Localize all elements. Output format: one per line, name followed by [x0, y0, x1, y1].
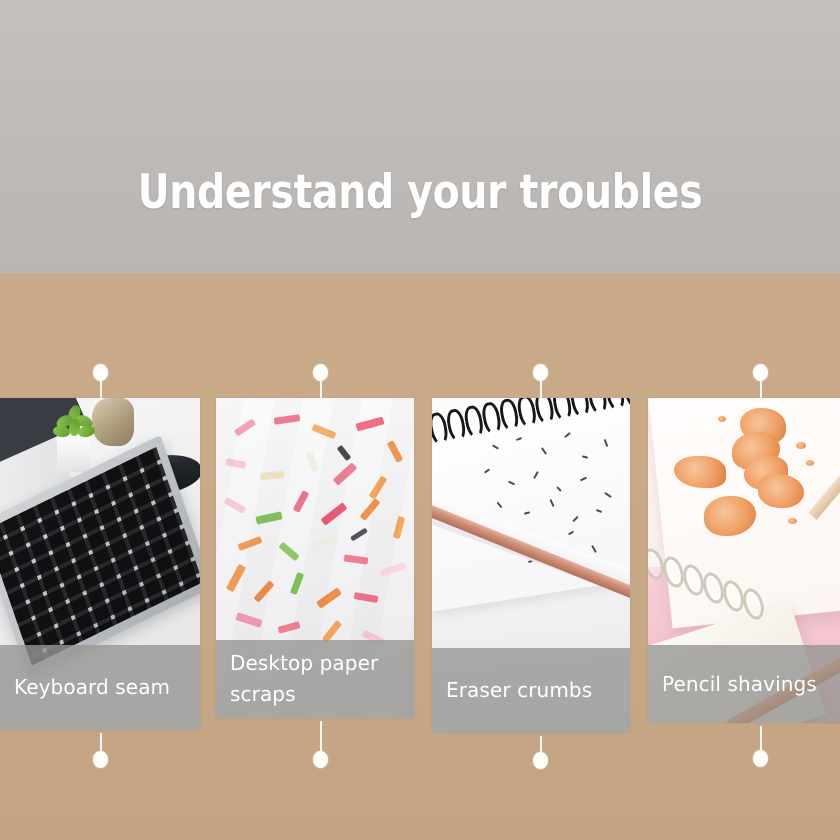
paper-scrap [277, 621, 300, 633]
paper-scrap [312, 424, 337, 439]
paper-scrap [354, 592, 379, 603]
pin-marker-top-2 [320, 364, 322, 402]
pin-marker-bottom-2 [320, 721, 322, 773]
pencil-shaving [796, 442, 806, 449]
paper-scrap [321, 502, 348, 526]
paper-scrap [274, 414, 301, 425]
card-keyboard-seam[interactable]: Keyboard seam [0, 398, 200, 730]
card-pencil-shavings[interactable]: Pencil shavings [648, 398, 840, 723]
card-eraser-crumbs[interactable]: Eraser crumbs [432, 398, 630, 733]
pin-marker-top-1 [100, 364, 102, 402]
paper-scrap [387, 440, 404, 463]
paper-scrap [316, 587, 342, 608]
card-label-eraser-crumbs: Eraser crumbs [432, 675, 606, 706]
paper-scrap [253, 580, 274, 603]
paper-scrap [369, 475, 388, 499]
card-label-pencil-shavings: Pencil shavings [648, 669, 831, 700]
pin-marker-bottom-4 [760, 726, 762, 774]
paper-scrap [278, 542, 299, 562]
stone-decor [92, 398, 134, 446]
paper-scrap [344, 554, 369, 564]
paper-scrap [225, 458, 246, 469]
paper-scrap [388, 603, 411, 620]
paper-scrap [255, 511, 282, 524]
pin-stem-icon [320, 721, 322, 755]
paper-scrap [312, 533, 339, 551]
card-label-band: Eraser crumbs [432, 648, 630, 733]
card-label-band: Desktop paper scraps [216, 640, 414, 718]
card-label-band: Pencil shavings [648, 645, 840, 723]
pin-marker-top-4 [760, 364, 762, 402]
paper-scrap [234, 418, 256, 436]
paper-scrap [224, 497, 247, 514]
paper-scrap [305, 451, 318, 472]
paper-scrap [380, 562, 407, 577]
card-label-desktop-paper-scraps: Desktop paper scraps [216, 648, 414, 710]
pencil-shaving [788, 518, 797, 524]
paper-scrap [238, 536, 263, 551]
header-band: Understand your troubles [0, 0, 840, 273]
pencil-shaving [718, 416, 726, 422]
paper-scrap [235, 612, 262, 628]
card-desktop-paper-scraps[interactable]: Desktop paper scraps [216, 398, 414, 718]
card-label-band: Keyboard seam [0, 645, 200, 730]
paper-scrap [293, 490, 310, 513]
paper-scrap [337, 445, 352, 461]
paper-scrap [333, 462, 358, 485]
page-title: Understand your troubles [29, 160, 810, 226]
card-label-keyboard-seam: Keyboard seam [0, 672, 184, 703]
paper-scrap [350, 528, 368, 542]
pencil-shaving [758, 474, 804, 508]
paper-scrap [260, 471, 285, 480]
leaf-shape [52, 425, 70, 438]
paper-scrap [290, 572, 304, 595]
paper-scrap [393, 516, 405, 539]
paper-scrap [360, 498, 381, 521]
paper-scrap [355, 417, 384, 432]
slide-canvas: Understand your troubles [0, 0, 840, 840]
pin-marker-bottom-1 [100, 733, 102, 773]
pin-marker-top-3 [540, 364, 542, 402]
succulent-plant [52, 406, 97, 442]
paper-scrap [226, 564, 246, 592]
pin-marker-bottom-3 [540, 736, 542, 776]
pencil-shaving [806, 460, 814, 466]
